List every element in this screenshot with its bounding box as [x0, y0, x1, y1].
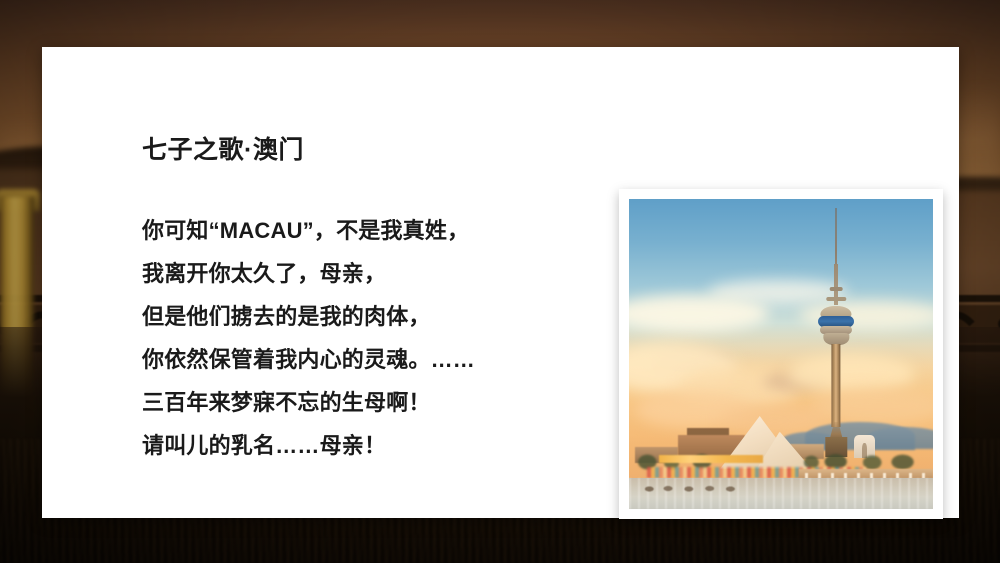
presentation-slide: 七子之歌·澳门 你可知“MACAU”，不是我真姓， 我离开你太久了，母亲， 但是…	[0, 0, 1000, 563]
macau-tower-photo	[629, 199, 933, 509]
poem-line: 我离开你太久了，母亲，	[142, 252, 562, 295]
poem-text-column: 七子之歌·澳门 你可知“MACAU”，不是我真姓， 我离开你太久了，母亲， 但是…	[142, 135, 562, 467]
page-title: 七子之歌·澳门	[142, 135, 562, 165]
water-shimmer	[629, 478, 933, 509]
water-buoys	[641, 484, 744, 493]
lit-awning-strip	[659, 455, 762, 463]
poem-line: 你依然保管着我内心的灵魂。……	[142, 338, 562, 381]
photo-frame	[619, 189, 943, 519]
tower-ring-upper	[830, 287, 843, 291]
content-card: 七子之歌·澳门 你可知“MACAU”，不是我真姓， 我离开你太久了，母亲， 但是…	[42, 47, 959, 518]
tower-ring-lower	[827, 297, 846, 301]
poem-line: 你可知“MACAU”，不是我真姓，	[142, 209, 562, 252]
poem-line: 请叫儿的乳名……母亲！	[142, 424, 562, 467]
tower-shaft	[832, 344, 841, 428]
distant-hill	[866, 427, 933, 449]
poem-body: 你可知“MACAU”，不是我真姓， 我离开你太久了，母亲， 但是他们掳去的是我的…	[142, 209, 562, 467]
macau-tower	[813, 208, 862, 462]
poem-line: 三百年来梦寐不忘的生母啊！	[142, 381, 562, 424]
poem-line: 但是他们掳去的是我的肉体，	[142, 295, 562, 338]
